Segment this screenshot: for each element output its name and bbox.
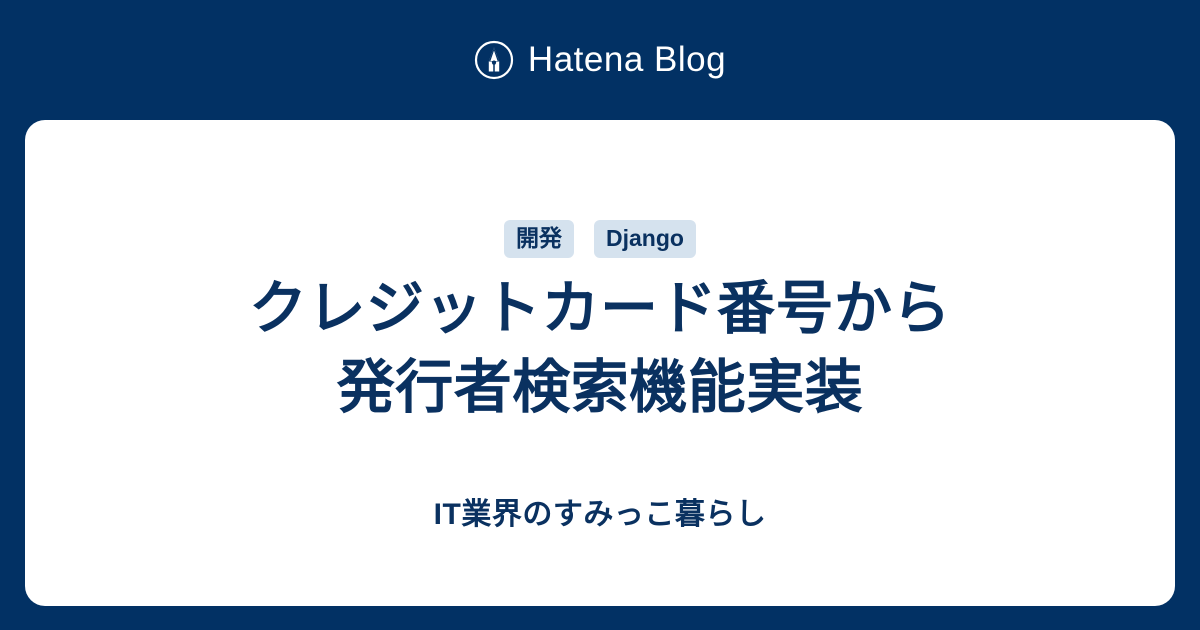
og-image-canvas: Hatena Blog 開発 Django クレジットカード番号から 発行者検索…	[0, 0, 1200, 630]
entry-card: 開発 Django クレジットカード番号から 発行者検索機能実装 IT業界のすみ…	[25, 120, 1175, 606]
entry-title-line: 発行者検索機能実装	[337, 355, 864, 420]
tag-item[interactable]: 開発	[504, 220, 574, 258]
brand-name: Hatena Blog	[528, 40, 726, 80]
brand-header: Hatena Blog	[0, 0, 1200, 120]
tag-list: 開発 Django	[504, 221, 696, 257]
tag-item[interactable]: Django	[594, 220, 696, 258]
entry-title-line: クレジットカード番号から	[249, 276, 951, 341]
hatena-pen-nib-icon	[474, 40, 514, 80]
entry-title: クレジットカード番号から 発行者検索機能実装	[100, 269, 1100, 427]
blog-name: IT業界のすみっこ暮らし	[434, 495, 767, 534]
